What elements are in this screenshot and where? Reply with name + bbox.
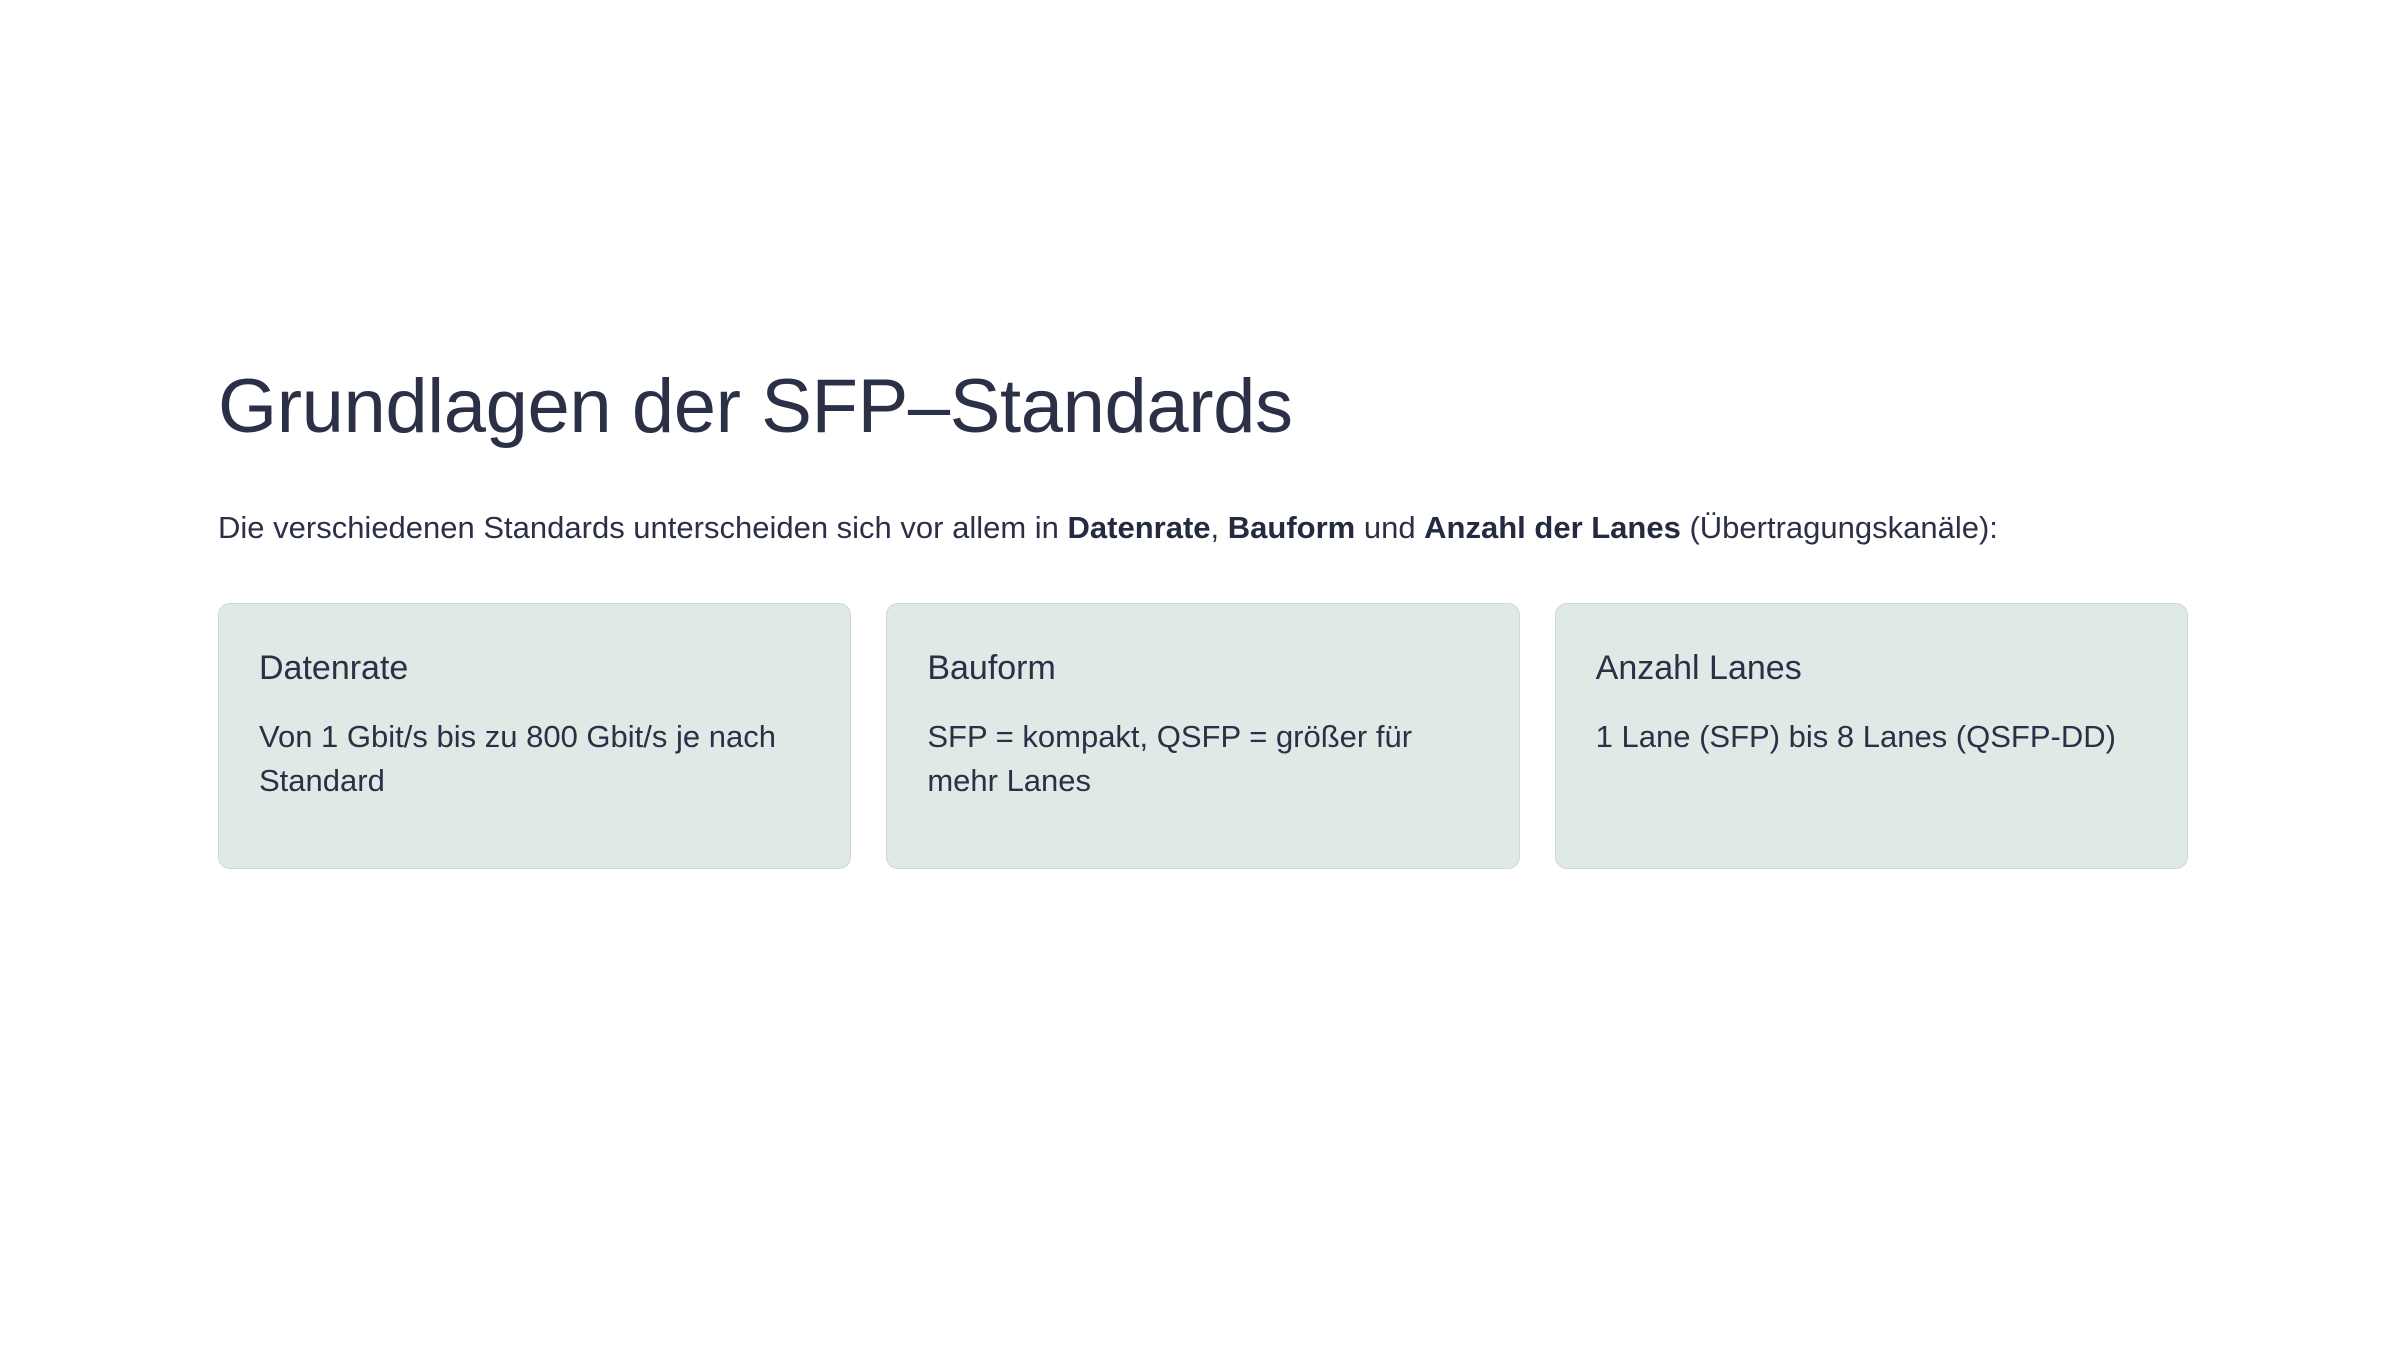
card-body: SFP = kompakt, QSFP = größer für mehr La… <box>927 689 1478 803</box>
card-title: Bauform <box>927 648 1478 689</box>
card-title: Datenrate <box>259 648 810 689</box>
feature-card-row: Datenrate Von 1 Gbit/s bis zu 800 Gbit/s… <box>218 553 2188 869</box>
intro-text-part-1: Die verschiedenen Standards unterscheide… <box>218 510 1068 545</box>
card-title: Anzahl Lanes <box>1596 648 2147 689</box>
feature-card-anzahl-lanes: Anzahl Lanes 1 Lane (SFP) bis 8 Lanes (Q… <box>1555 603 2188 869</box>
intro-text-part-2: , <box>1211 510 1228 545</box>
content-container: Grundlagen der SFP–Standards Die verschi… <box>218 364 2188 869</box>
intro-bold-anzahl-der-lanes: Anzahl der Lanes <box>1424 510 1681 545</box>
feature-card-datenrate: Datenrate Von 1 Gbit/s bis zu 800 Gbit/s… <box>218 603 851 869</box>
card-body: Von 1 Gbit/s bis zu 800 Gbit/s je nach S… <box>259 689 810 803</box>
feature-card-bauform: Bauform SFP = kompakt, QSFP = größer für… <box>886 603 1519 869</box>
page-root: Grundlagen der SFP–Standards Die verschi… <box>0 0 2400 1350</box>
intro-bold-bauform: Bauform <box>1228 510 1355 545</box>
intro-bold-datenrate: Datenrate <box>1068 510 1211 545</box>
page-title: Grundlagen der SFP–Standards <box>218 364 2188 449</box>
card-body: 1 Lane (SFP) bis 8 Lanes (QSFP-DD) <box>1596 689 2147 759</box>
intro-text-part-3: und <box>1355 510 1424 545</box>
intro-paragraph: Die verschiedenen Standards unterscheide… <box>218 449 2048 553</box>
intro-text-part-4: (Übertragungskanäle): <box>1681 510 1998 545</box>
